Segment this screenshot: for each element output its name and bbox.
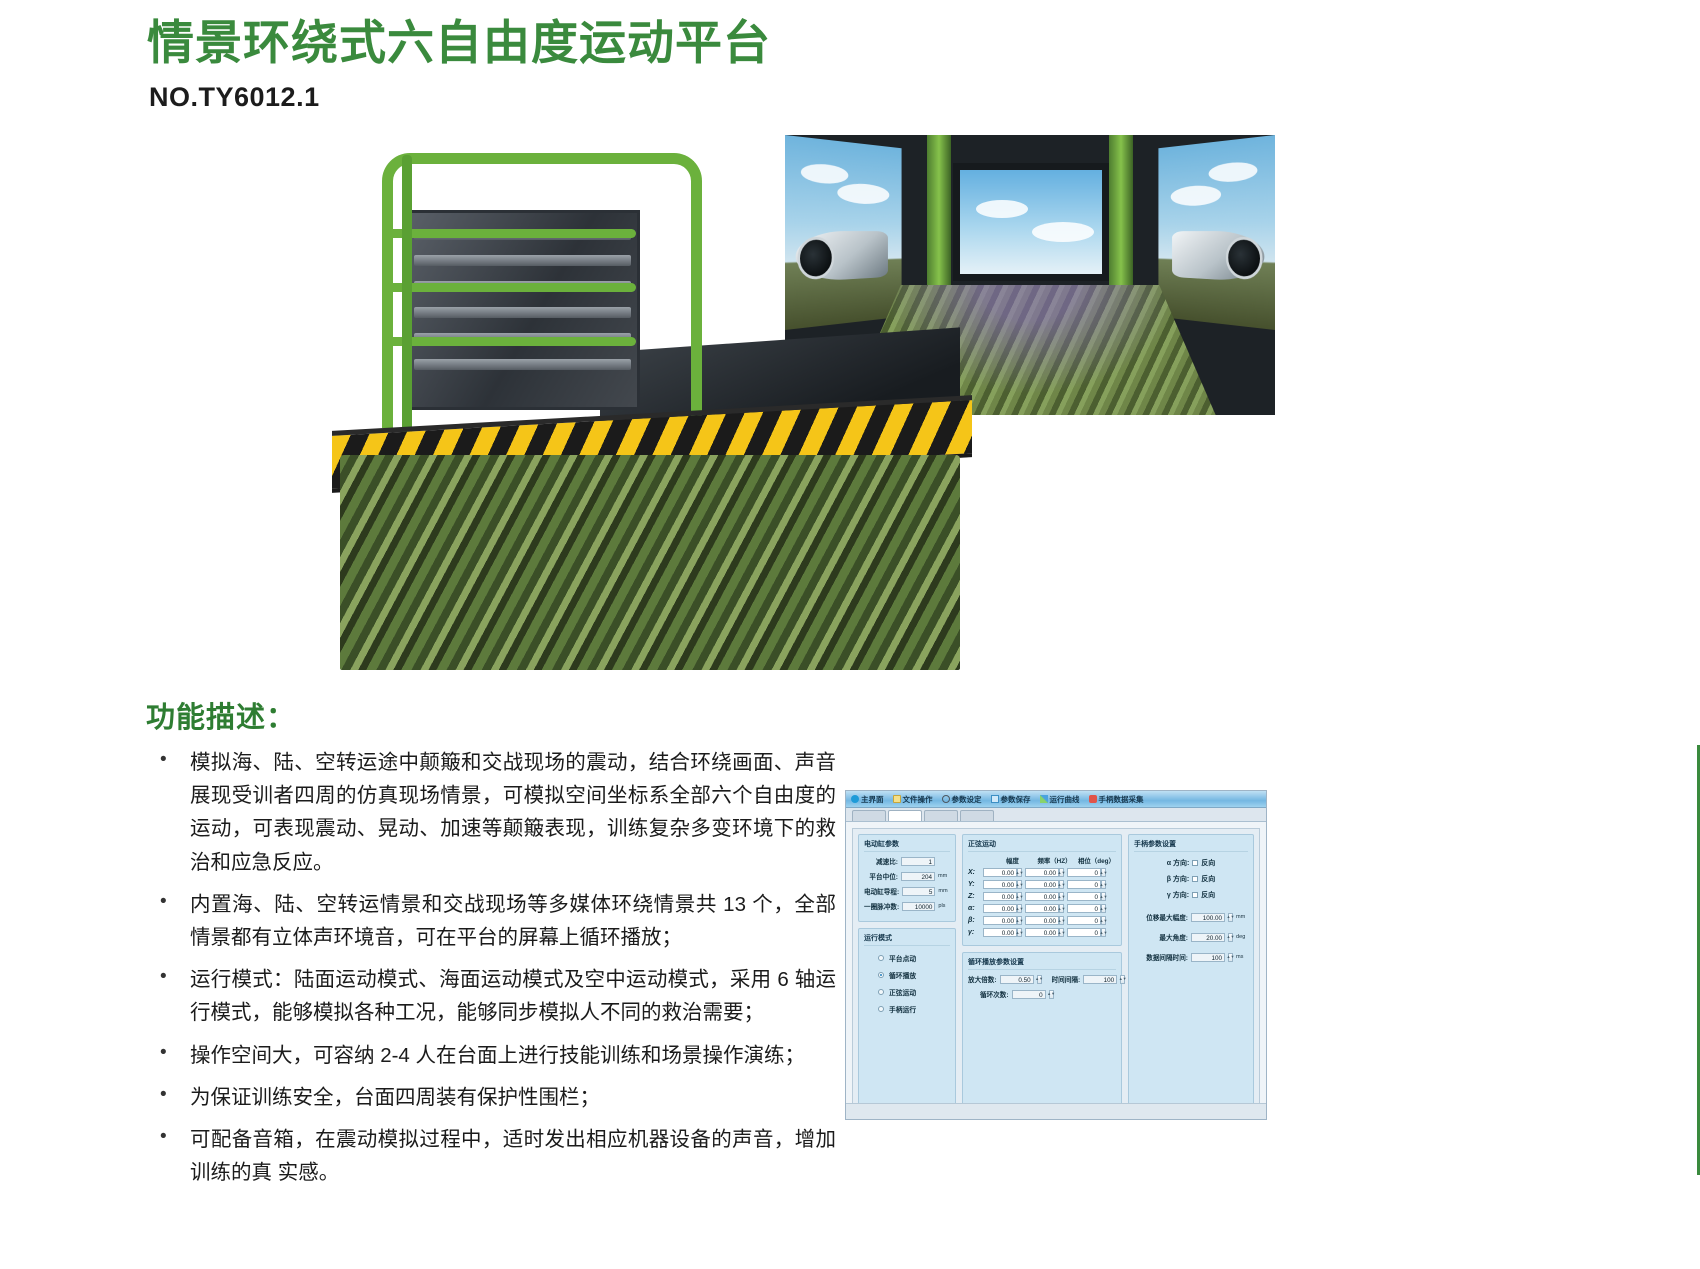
axis-label: Z: [968, 893, 980, 900]
direction-label: α 方向: [1167, 858, 1190, 868]
sine-row-x: X: 0.00▲▼ 0.00▲▼ 0▲▼ [968, 868, 1116, 877]
spinner[interactable]: ▲▼ [1059, 868, 1064, 877]
spinner[interactable]: ▲▼ [1101, 880, 1106, 889]
loop-row-magnification: 放大倍数: 0.50 ▲▼ [968, 974, 1042, 984]
spinner[interactable]: ▲▼ [1228, 953, 1233, 962]
model-number: NO.TY6012.1 [149, 82, 320, 113]
phase-input[interactable]: 0 [1067, 904, 1101, 913]
group-run-mode: 运行模式 平台点动 循环播放 正弦运动 [858, 928, 956, 1107]
radio-label: 平台点动 [889, 953, 916, 963]
software-body: 电动缸参数 减速比: 1 平台中位: 204 mm 电动缸导程: [846, 822, 1266, 1119]
spinner[interactable]: ▲▼ [1037, 975, 1042, 984]
feature-item: 为保证训练安全，台面四周装有保护性围栏； [146, 1081, 836, 1114]
radio-joystick-run[interactable]: 手柄运行 [878, 1004, 950, 1014]
product-photo [330, 125, 1290, 670]
toolbar-label: 手柄数据采集 [1099, 794, 1144, 805]
param-unit: deg [1236, 934, 1248, 940]
radio-label: 正弦运动 [889, 987, 916, 997]
param-row: 减速比: 1 [864, 856, 950, 866]
column-header-frequency: 频率（HZ） [1035, 856, 1074, 865]
spinner[interactable]: ▲▼ [1101, 868, 1106, 877]
feature-item: 可配备音箱，在震动模拟过程中，适时发出相应机器设备的声音，增加训练的真 实感。 [146, 1123, 836, 1189]
group-joystick-params: 手柄参数设置 α 方向: 反向 β 方向: 反向 γ 方向: [1128, 834, 1254, 1107]
group-title: 运行模式 [864, 933, 950, 946]
spinner[interactable]: ▲▼ [1059, 916, 1064, 925]
toolbar-item-run-curve[interactable]: 运行曲线 [1040, 794, 1080, 805]
spinner[interactable]: ▲▼ [1059, 904, 1064, 913]
spinner[interactable]: ▲▼ [1017, 892, 1022, 901]
checkbox-label: 反向 [1201, 858, 1215, 868]
param-label: 循环次数: [980, 989, 1009, 999]
axis-label: Y: [968, 881, 980, 888]
param-value[interactable]: 10000 [902, 902, 935, 911]
software-panel: 电动缸参数 减速比: 1 平台中位: 204 mm 电动缸导程: [852, 828, 1260, 1113]
toolbar-label: 文件操作 [903, 794, 933, 805]
group-title: 电动缸参数 [864, 839, 950, 852]
sine-row-alpha: α: 0.00▲▼ 0.00▲▼ 0▲▼ [968, 904, 1116, 913]
radio-indicator [878, 989, 884, 995]
feature-item: 运行模式：陆面运动模式、海面运动模式及空中运动模式，采用 6 轴运行模式，能够模… [146, 963, 836, 1029]
frequency-input[interactable]: 0.00 [1025, 928, 1059, 937]
param-label: 最大角度: [1159, 932, 1188, 942]
param-value[interactable]: 100.00 [1191, 913, 1225, 922]
save-icon [991, 795, 999, 803]
spinner[interactable]: ▲▼ [1228, 913, 1233, 922]
software-tab-strip[interactable] [846, 808, 1266, 822]
param-label: 数据间隔时间: [1146, 952, 1188, 962]
reverse-checkbox[interactable] [1192, 892, 1198, 898]
radio-indicator [878, 1006, 884, 1012]
loop-row-count: 循环次数: 0 ▲▼ [980, 989, 1116, 999]
radio-platform-jog[interactable]: 平台点动 [878, 953, 950, 963]
spinner[interactable]: ▲▼ [1120, 975, 1125, 984]
reverse-checkbox[interactable] [1192, 876, 1198, 882]
joystick-row-max-angle: 最大角度: 20.00 ▲▼ deg [1134, 932, 1248, 942]
cloud-shape [976, 200, 1028, 218]
features-list: 模拟海、陆、空转运途中颠簸和交战现场的震动，结合环绕画面、声音展现受训者四周的仿… [146, 746, 836, 1189]
param-label: 一圈脉冲数: [864, 901, 899, 911]
dot-icon [851, 795, 859, 803]
joystick-row-data-interval: 数据间隔时间: 100 ▲▼ ms [1134, 952, 1248, 962]
param-row: 一圈脉冲数: 10000 pls [864, 901, 950, 911]
spinner[interactable]: ▲▼ [1101, 892, 1106, 901]
param-value[interactable]: 5 [902, 887, 935, 896]
phase-input[interactable]: 0 [1067, 880, 1101, 889]
phase-input[interactable]: 0 [1067, 916, 1101, 925]
spinner[interactable]: ▲▼ [1101, 928, 1106, 937]
amplitude-input[interactable]: 0.00 [983, 880, 1017, 889]
group-loop-params: 循环播放参数设置 放大倍数: 0.50 ▲▼ 时间间隔: 100 ▲▼ [962, 952, 1122, 1107]
frequency-input[interactable]: 0.00 [1025, 880, 1059, 889]
joystick-direction-beta: β 方向: 反向 [1134, 874, 1248, 884]
tab-1[interactable] [852, 810, 886, 821]
param-value[interactable]: 1 [901, 857, 935, 866]
spinner[interactable]: ▲▼ [1017, 868, 1022, 877]
toolbar-item-main-screen[interactable]: 主界面 [851, 794, 884, 805]
checkbox-label: 反向 [1201, 890, 1215, 900]
group-title: 正弦运动 [968, 839, 1116, 852]
amplitude-input[interactable]: 0.00 [983, 868, 1017, 877]
railing-bar [386, 283, 636, 292]
tab-2-active[interactable] [888, 810, 922, 821]
toolbar-label: 运行曲线 [1050, 794, 1080, 805]
spinner[interactable]: ▲▼ [1049, 990, 1054, 999]
param-row: 电动缸导程: 5 mm [864, 886, 950, 896]
direction-label: β 方向: [1167, 874, 1190, 884]
direction-label: γ 方向: [1167, 890, 1189, 900]
loop-row-interval: 时间间隔: 100 ▲▼ [1052, 974, 1126, 984]
center-screen [953, 163, 1109, 281]
joystick-direction-alpha: α 方向: 反向 [1134, 858, 1248, 868]
software-toolbar: 主界面 文件操作 参数设定 参数保存 运行曲线 手柄数据采集 [846, 791, 1266, 808]
control-software-window: 主界面 文件操作 参数设定 参数保存 运行曲线 手柄数据采集 [845, 790, 1267, 1120]
param-label: 位移最大幅度: [1146, 912, 1188, 922]
param-unit: ms [1236, 954, 1248, 960]
group-sine-motion: 正弦运动 幅度 频率（HZ） 相位（deg） X: 0.00▲▼ 0.00▲▼ … [962, 834, 1122, 946]
frequency-input[interactable]: 0.00 [1025, 916, 1059, 925]
axis-label: α: [968, 905, 980, 912]
jet-engine-left-icon [796, 231, 888, 282]
joystick-icon [1089, 795, 1097, 803]
axis-label: γ: [968, 929, 980, 936]
toolbar-item-joystick-capture[interactable]: 手柄数据采集 [1089, 794, 1144, 805]
toolbar-item-file-operation[interactable]: 文件操作 [893, 794, 933, 805]
curve-icon [1040, 795, 1048, 803]
gear-icon [942, 795, 950, 803]
radio-label: 手柄运行 [889, 1004, 916, 1014]
cloud-shape [1032, 222, 1094, 242]
spinner[interactable]: ▲▼ [1228, 933, 1233, 942]
param-label: 时间间隔: [1052, 974, 1081, 984]
frequency-input[interactable]: 0.00 [1025, 904, 1059, 913]
toolbar-label: 参数设定 [952, 794, 982, 805]
axis-label: X: [968, 869, 980, 876]
param-unit: pls [938, 903, 950, 909]
column-header-phase: 相位（deg） [1077, 856, 1116, 865]
toolbar-label: 主界面 [861, 794, 884, 805]
sine-row-z: Z: 0.00▲▼ 0.00▲▼ 0▲▼ [968, 892, 1116, 901]
spinner[interactable]: ▲▼ [1017, 916, 1022, 925]
amplitude-input[interactable]: 0.00 [983, 916, 1017, 925]
param-unit: mm [1236, 914, 1248, 920]
spinner[interactable]: ▲▼ [1059, 892, 1064, 901]
toolbar-item-parameter-save[interactable]: 参数保存 [991, 794, 1031, 805]
jet-engine-right-icon [1172, 231, 1264, 282]
param-value[interactable]: 0 [1012, 990, 1046, 999]
toolbar-item-parameter-setting[interactable]: 参数设定 [942, 794, 982, 805]
column-header-amplitude: 幅度 [993, 856, 1032, 865]
spinner[interactable]: ▲▼ [1101, 916, 1106, 925]
axis-label: β: [968, 917, 980, 924]
amplitude-input[interactable]: 0.00 [983, 928, 1017, 937]
param-label: 平台中位: [869, 871, 898, 881]
param-value[interactable]: 20.00 [1191, 933, 1225, 942]
feature-item: 操作空间大，可容纳 2-4 人在台面上进行技能训练和场景操作演练； [146, 1039, 836, 1072]
group-title: 手柄参数设置 [1134, 839, 1248, 852]
param-row: 平台中位: 204 mm [864, 871, 950, 881]
cloud-shape [801, 162, 848, 184]
checkbox-label: 反向 [1201, 874, 1215, 884]
spinner[interactable]: ▲▼ [1017, 928, 1022, 937]
sine-row-gamma: γ: 0.00▲▼ 0.00▲▼ 0▲▼ [968, 928, 1116, 937]
radio-indicator [878, 955, 884, 961]
param-unit: mm [938, 873, 950, 879]
phase-input[interactable]: 0 [1067, 928, 1101, 937]
phase-input[interactable]: 0 [1067, 868, 1101, 877]
param-label: 放大倍数: [968, 974, 997, 984]
radio-sine-motion[interactable]: 正弦运动 [878, 987, 950, 997]
railing-bar [386, 337, 636, 346]
param-value[interactable]: 100 [1083, 975, 1117, 984]
param-value[interactable]: 204 [901, 872, 935, 881]
param-unit: mm [938, 888, 950, 894]
amplitude-input[interactable]: 0.00 [983, 904, 1017, 913]
radio-label: 循环播放 [889, 970, 916, 980]
sine-row-beta: β: 0.00▲▼ 0.00▲▼ 0▲▼ [968, 916, 1116, 925]
phase-input[interactable]: 0 [1067, 892, 1101, 901]
tab-4[interactable] [960, 810, 994, 821]
right-screen [1158, 135, 1275, 330]
radio-loop-playback[interactable]: 循环播放 [878, 970, 950, 980]
feature-item: 模拟海、陆、空转运途中颠簸和交战现场的震动，结合环绕画面、声音展现受训者四周的仿… [146, 746, 836, 879]
left-screen [785, 135, 902, 330]
feature-description-section: 功能描述： 模拟海、陆、空转运途中颠簸和交战现场的震动，结合环绕画面、声音展现受… [146, 694, 836, 1198]
software-status-bar [846, 1103, 1266, 1119]
camouflage-skirt [340, 455, 960, 670]
features-heading: 功能描述： [146, 694, 836, 736]
cloud-shape [1209, 161, 1258, 184]
toolbar-label: 参数保存 [1001, 794, 1031, 805]
group-cylinder-params: 电动缸参数 减速比: 1 平台中位: 204 mm 电动缸导程: [858, 834, 956, 922]
sine-column-headers: 幅度 频率（HZ） 相位（deg） [968, 856, 1116, 865]
reverse-checkbox[interactable] [1192, 860, 1198, 866]
radio-indicator-selected [878, 972, 884, 978]
folder-icon [893, 795, 901, 803]
spinner[interactable]: ▲▼ [1059, 928, 1064, 937]
cloud-shape [837, 182, 889, 205]
joystick-row-max-displacement: 位移最大幅度: 100.00 ▲▼ mm [1134, 912, 1248, 922]
param-label: 电动缸导程: [864, 886, 899, 896]
feature-item: 内置海、陆、空转运情景和交战现场等多媒体环绕情景共 13 个，全部情景都有立体声… [146, 888, 836, 954]
page-title: 情景环绕式六自由度运动平台 [147, 16, 771, 70]
sine-row-y: Y: 0.00▲▼ 0.00▲▼ 0▲▼ [968, 880, 1116, 889]
spinner[interactable]: ▲▼ [1101, 904, 1106, 913]
spinner[interactable]: ▲▼ [1017, 904, 1022, 913]
spinner[interactable]: ▲▼ [1059, 880, 1064, 889]
joystick-direction-gamma: γ 方向: 反向 [1134, 890, 1248, 900]
frequency-input[interactable]: 0.00 [1025, 868, 1059, 877]
param-value[interactable]: 100 [1191, 953, 1225, 962]
amplitude-input[interactable]: 0.00 [983, 892, 1017, 901]
group-title: 循环播放参数设置 [968, 957, 1116, 970]
tab-3[interactable] [924, 810, 958, 821]
frequency-input[interactable]: 0.00 [1025, 892, 1059, 901]
railing-post [402, 155, 412, 455]
railing-bar [386, 229, 636, 238]
param-value[interactable]: 0.50 [1000, 975, 1034, 984]
spinner[interactable]: ▲▼ [1017, 880, 1022, 889]
param-label: 减速比: [876, 856, 898, 866]
cloud-shape [1171, 184, 1221, 206]
